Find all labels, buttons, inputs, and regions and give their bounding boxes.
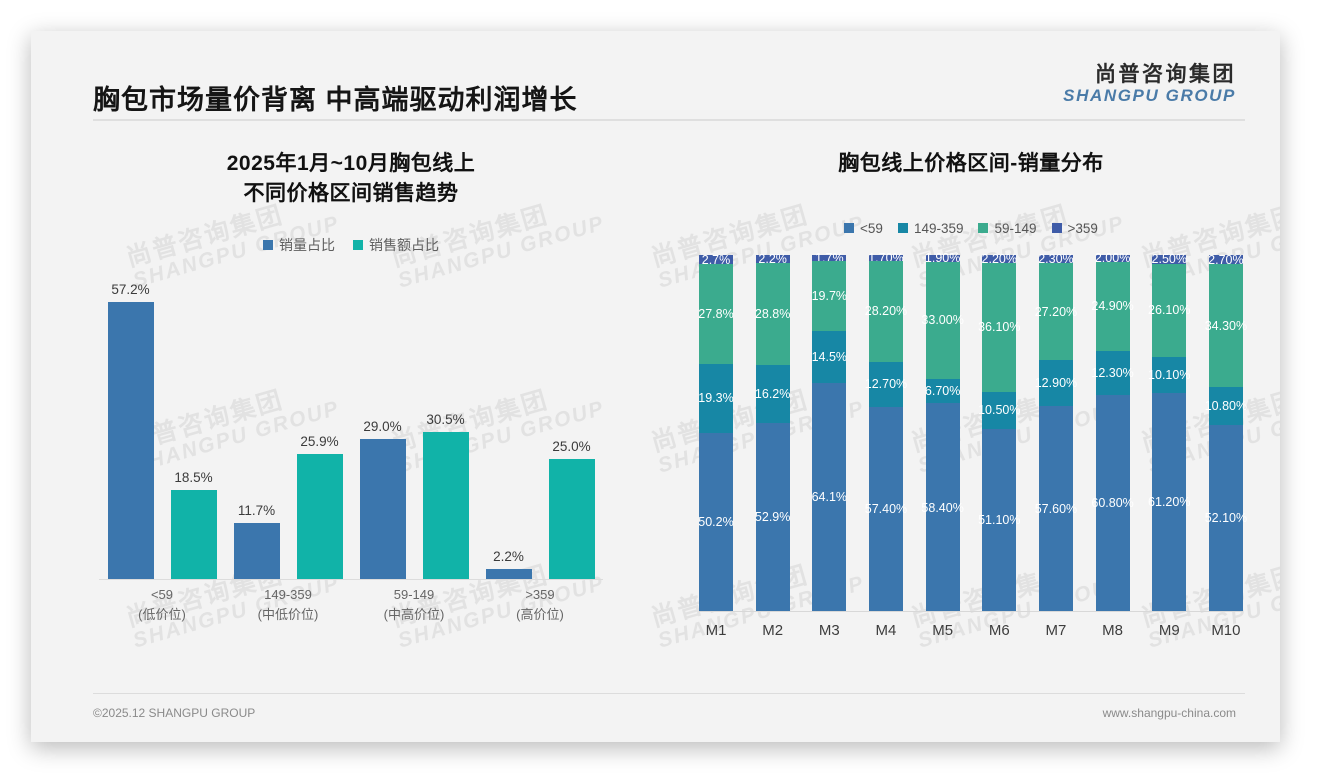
stack-segment[interactable]: 24.90% [1096, 262, 1130, 351]
stack-segment[interactable]: 16.2% [756, 365, 790, 423]
left-chart-title: 2025年1月~10月胸包线上 不同价格区间销售趋势 [51, 149, 651, 209]
stack-segment-label: 10.50% [977, 403, 1021, 417]
stack-segment-label: 52.9% [751, 510, 795, 524]
bar-column[interactable]: 25.0% [549, 279, 595, 580]
legend-swatch-icon [844, 223, 854, 233]
legend-label: 149-359 [914, 221, 964, 236]
stack-segment-label: 6.70% [921, 384, 965, 398]
stacked-bar-column[interactable]: 1.90%33.00%6.70%58.40% [926, 255, 960, 612]
stack-segment[interactable]: 27.8% [699, 264, 733, 363]
slide-header: 胸包市场量价背离 中高端驱动利润增长 尚普咨询集团 SHANGPU GROUP [31, 31, 1280, 120]
legend-item-2[interactable]: 149-359 [898, 221, 964, 236]
right-chart-panel: 胸包线上价格区间-销量分布 <59149-35959-149>359 2.7%2… [671, 127, 1271, 650]
bar-rect[interactable] [171, 490, 217, 580]
legend-label: 销售额占比 [369, 235, 439, 255]
bar-column[interactable]: 57.2% [108, 279, 154, 580]
x-axis-month-label: M9 [1152, 622, 1186, 639]
stack-segment-label: 27.8% [694, 307, 738, 321]
left-chart-panel: 2025年1月~10月胸包线上 不同价格区间销售趋势 销量占比销售额占比 57.… [51, 127, 651, 614]
stack-segment-label: 27.20% [1034, 305, 1078, 319]
bar-column[interactable]: 2.2% [486, 279, 532, 580]
stack-segment[interactable]: 28.20% [869, 261, 903, 362]
stack-segment[interactable]: 33.00% [926, 262, 960, 380]
bar-column[interactable]: 29.0% [360, 279, 406, 580]
stack-segment[interactable]: 2.00% [1096, 255, 1130, 262]
stack-segment-label: 12.70% [864, 377, 908, 391]
stack-segment-label: 26.10% [1147, 303, 1191, 317]
category-tier: (中高价位) [351, 605, 477, 625]
x-axis-category-label: 149-359(中低价位) [225, 580, 351, 614]
stack-segment-label: 36.10% [977, 320, 1021, 334]
category-tier: (低价位) [99, 605, 225, 625]
header-divider [93, 119, 1245, 121]
x-axis-month-label: M2 [756, 622, 790, 639]
bar-column[interactable]: 11.7% [234, 279, 280, 580]
stack-segment[interactable]: 1.90% [926, 255, 960, 262]
footer-divider [93, 693, 1245, 694]
stack-segment-label: 28.8% [751, 307, 795, 321]
bar-value-label: 30.5% [426, 412, 464, 427]
stack-segment[interactable]: 2.70% [1209, 255, 1243, 265]
stack-segment[interactable]: 10.10% [1152, 357, 1186, 393]
stack-segment[interactable]: 10.80% [1209, 387, 1243, 426]
bar-rect[interactable] [360, 439, 406, 580]
stack-segment[interactable]: 2.2% [756, 255, 790, 263]
legend-label: >359 [1068, 221, 1098, 236]
x-axis-month-label: M4 [869, 622, 903, 639]
stack-segment[interactable]: 2.50% [1152, 255, 1186, 264]
stack-segment-label: 64.1% [807, 490, 851, 504]
stack-segment-label: 10.10% [1147, 368, 1191, 382]
x-axis-category-label: 59-149(中高价位) [351, 580, 477, 614]
stack-segment-label: 50.2% [694, 515, 738, 529]
x-axis-category-label: <59(低价位) [99, 580, 225, 614]
x-axis-category-label: >359(高价位) [477, 580, 603, 614]
logo-text-cn: 尚普咨询集团 [1063, 64, 1236, 87]
bar-value-label: 18.5% [174, 470, 212, 485]
bar-group: 11.7%25.9% [234, 279, 343, 580]
stack-segment-label: 52.10% [1204, 511, 1248, 525]
stack-segment-label: 12.90% [1034, 376, 1078, 390]
stack-segment-label: 60.80% [1091, 496, 1135, 510]
bar-column[interactable]: 18.5% [171, 279, 217, 580]
stack-segment-label: 10.80% [1204, 399, 1248, 413]
stacked-bar-column[interactable]: 2.30%27.20%12.90%57.60% [1039, 255, 1073, 612]
stacked-bar-column[interactable]: 1.70%28.20%12.70%57.40% [869, 255, 903, 612]
stack-segment[interactable]: 57.60% [1039, 406, 1073, 612]
bar-value-label: 25.9% [300, 434, 338, 449]
bar-group: 2.2%25.0% [486, 279, 595, 580]
bar-value-label: 29.0% [363, 419, 401, 434]
stacked-bar-column[interactable]: 2.70%34.30%10.80%52.10% [1209, 255, 1243, 612]
bar-rect[interactable] [297, 454, 343, 580]
legend-swatch-icon [1052, 223, 1062, 233]
stack-segment-label: 61.20% [1147, 495, 1191, 509]
bar-rect[interactable] [108, 302, 154, 580]
legend-item-1[interactable]: <59 [844, 221, 883, 236]
stack-segment-label: 33.00% [921, 313, 965, 327]
legend-item-1[interactable]: 销量占比 [263, 235, 335, 255]
footer-copyright: ©2025.12 SHANGPU GROUP [93, 706, 255, 720]
stack-segment-label: 28.20% [864, 304, 908, 318]
category-range: 149-359 [225, 585, 351, 605]
stacked-bar-column[interactable]: 2.20%36.10%10.50%51.10% [982, 255, 1016, 612]
bar-value-label: 25.0% [552, 439, 590, 454]
x-axis-month-label: M8 [1096, 622, 1130, 639]
stack-segment[interactable]: 27.20% [1039, 263, 1073, 360]
stack-segment[interactable]: 19.3% [699, 364, 733, 433]
stack-segment[interactable]: 52.9% [756, 423, 790, 612]
page-title: 胸包市场量价背离 中高端驱动利润增长 [93, 78, 578, 117]
category-tier: (中低价位) [225, 605, 351, 625]
stack-segment[interactable]: 64.1% [812, 383, 846, 612]
legend-item-4[interactable]: >359 [1052, 221, 1098, 236]
legend-label: <59 [860, 221, 883, 236]
brand-logo: 尚普咨询集团 SHANGPU GROUP [1063, 64, 1236, 105]
left-chart-title-line1: 2025年1月~10月胸包线上 [51, 149, 651, 179]
stacked-bar-column[interactable]: 1.7%19.7%14.5%64.1% [812, 255, 846, 612]
stack-segment-label: 19.3% [694, 391, 738, 405]
stack-segment[interactable]: 36.10% [982, 263, 1016, 392]
stack-segment-label: 58.40% [921, 501, 965, 515]
stack-segment[interactable]: 34.30% [1209, 264, 1243, 386]
category-tier: (高价位) [477, 605, 603, 625]
x-axis-month-label: M7 [1039, 622, 1073, 639]
bar-value-label: 11.7% [238, 503, 275, 518]
x-axis-month-label: M10 [1209, 622, 1243, 639]
bar-rect[interactable] [423, 432, 469, 580]
stack-segment[interactable]: 19.7% [812, 261, 846, 331]
stack-segment-label: 14.5% [807, 350, 851, 364]
stack-segment[interactable]: 50.2% [699, 433, 733, 612]
bar-column[interactable]: 25.9% [297, 279, 343, 580]
left-chart-title-line2: 不同价格区间销售趋势 [51, 179, 651, 209]
stack-segment[interactable]: 2.20% [982, 255, 1016, 263]
stack-segment[interactable]: 28.8% [756, 263, 790, 366]
stack-segment-label: 12.30% [1091, 366, 1135, 380]
category-range: <59 [99, 585, 225, 605]
stacked-bar-column[interactable]: 2.7%27.8%19.3%50.2% [699, 255, 733, 612]
legend-swatch-icon [353, 240, 363, 250]
legend-swatch-icon [263, 240, 273, 250]
stack-segment[interactable]: 60.80% [1096, 395, 1130, 612]
stacked-bar-column[interactable]: 2.00%24.90%12.30%60.80% [1096, 255, 1130, 612]
category-range: >359 [477, 585, 603, 605]
stack-segment[interactable]: 14.5% [812, 331, 846, 383]
logo-text-en: SHANGPU GROUP [1063, 87, 1236, 106]
legend-item-2[interactable]: 销售额占比 [353, 235, 439, 255]
footer-website: www.shangpu-china.com [1103, 706, 1236, 720]
x-axis-month-label: M6 [982, 622, 1016, 639]
category-range: 59-149 [351, 585, 477, 605]
left-chart-legend: 销量占比销售额占比 [51, 235, 651, 255]
bar-rect[interactable] [549, 459, 595, 580]
stack-segment[interactable]: 51.10% [982, 429, 1016, 611]
bar-value-label: 57.2% [111, 282, 149, 297]
stack-segment[interactable]: 12.70% [869, 362, 903, 407]
stack-segment[interactable]: 58.40% [926, 403, 960, 611]
stack-segment-label: 19.7% [807, 289, 851, 303]
x-axis-month-label: M3 [812, 622, 846, 639]
stack-segment[interactable]: 52.10% [1209, 425, 1243, 611]
legend-label: 59-149 [994, 221, 1036, 236]
stack-segment-label: 16.2% [751, 387, 795, 401]
stack-segment[interactable]: 12.90% [1039, 360, 1073, 406]
stack-segment-label: 57.40% [864, 502, 908, 516]
bar-rect[interactable] [234, 523, 280, 580]
stack-segment[interactable]: 26.10% [1152, 264, 1186, 357]
legend-item-3[interactable]: 59-149 [978, 221, 1036, 236]
right-chart-legend: <59149-35959-149>359 [671, 221, 1271, 236]
right-stacked-bar-chart: 2.7%27.8%19.3%50.2%2.2%28.8%16.2%52.9%1.… [693, 255, 1249, 650]
stack-segment[interactable]: 2.30% [1039, 255, 1073, 263]
legend-swatch-icon [898, 223, 908, 233]
stack-segment-label: 24.90% [1091, 299, 1135, 313]
stack-segment[interactable]: 6.70% [926, 379, 960, 403]
stacked-bar-column[interactable]: 2.2%28.8%16.2%52.9% [756, 255, 790, 612]
left-grouped-bar-chart: 57.2%18.5%11.7%25.9%29.0%30.5%2.2%25.0% … [83, 279, 619, 614]
stack-segment[interactable]: 57.40% [869, 407, 903, 612]
bar-value-label: 2.2% [493, 549, 524, 564]
bar-column[interactable]: 30.5% [423, 279, 469, 580]
slide-card: 尚普咨询集团SHANGPU GROUP尚普咨询集团SHANGPU GROUP尚普… [31, 31, 1280, 742]
stack-segment[interactable]: 2.7% [699, 255, 733, 265]
stack-segment-label: 34.30% [1204, 319, 1248, 333]
stack-segment[interactable]: 10.50% [982, 392, 1016, 429]
stack-segment[interactable]: 12.30% [1096, 351, 1130, 395]
bar-group: 29.0%30.5% [360, 279, 469, 580]
stack-segment[interactable]: 61.20% [1152, 393, 1186, 611]
legend-swatch-icon [978, 223, 988, 233]
bar-group: 57.2%18.5% [108, 279, 217, 580]
stack-segment-label: 57.60% [1034, 502, 1078, 516]
x-axis-month-label: M5 [926, 622, 960, 639]
stack-segment-label: 51.10% [977, 513, 1021, 527]
x-axis-month-label: M1 [699, 622, 733, 639]
right-chart-title: 胸包线上价格区间-销量分布 [671, 149, 1271, 179]
legend-label: 销量占比 [279, 235, 335, 255]
stacked-bar-column[interactable]: 2.50%26.10%10.10%61.20% [1152, 255, 1186, 612]
